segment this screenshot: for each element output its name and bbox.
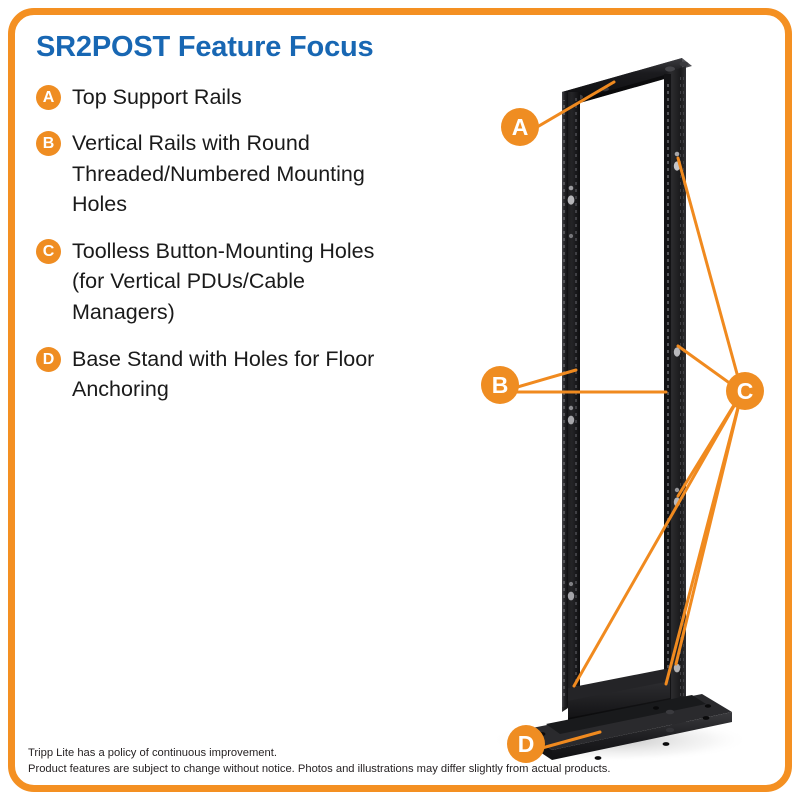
callout-leader-lines — [514, 82, 742, 748]
feature-list-panel: SR2POST Feature Focus A Top Support Rail… — [36, 32, 456, 421]
rack-frame — [522, 58, 732, 760]
leader-c-6 — [574, 392, 742, 686]
svg-text:C: C — [737, 378, 754, 404]
callout-badge-a: A — [501, 108, 539, 146]
feature-badge-b: B — [36, 131, 61, 156]
page-title: SR2POST Feature Focus — [36, 32, 456, 64]
feature-label-c: Toolless Button-Mounting Holes (for Vert… — [72, 236, 402, 328]
callout-badge-b: B — [481, 366, 519, 404]
callout-badge-c: C — [726, 372, 764, 410]
feature-list: A Top Support Rails B Vertical Rails wit… — [36, 82, 456, 405]
page-root: SR2POST Feature Focus A Top Support Rail… — [0, 0, 800, 800]
feature-label-d: Base Stand with Holes for Floor Anchorin… — [72, 344, 402, 405]
feature-badge-c: C — [36, 239, 61, 264]
footer-disclaimer: Tripp Lite has a policy of continuous im… — [28, 746, 688, 778]
leader-c-1 — [678, 158, 742, 392]
feature-item-a: A Top Support Rails — [36, 82, 456, 113]
feature-label-b: Vertical Rails with Round Threaded/Numbe… — [72, 128, 402, 220]
svg-text:A: A — [512, 114, 529, 140]
feature-item-b: B Vertical Rails with Round Threaded/Num… — [36, 128, 456, 220]
svg-text:B: B — [492, 372, 509, 398]
feature-badge-d: D — [36, 347, 61, 372]
footer-line-1: Tripp Lite has a policy of continuous im… — [28, 746, 688, 762]
feature-item-d: D Base Stand with Holes for Floor Anchor… — [36, 344, 456, 405]
vertical-rail-left — [562, 92, 580, 712]
feature-item-c: C Toolless Button-Mounting Holes (for Ve… — [36, 236, 456, 328]
feature-badge-a: A — [36, 85, 61, 110]
rack-illustration: A B C D — [470, 40, 790, 780]
feature-label-a: Top Support Rails — [72, 82, 242, 113]
footer-line-2: Product features are subject to change w… — [28, 762, 688, 778]
